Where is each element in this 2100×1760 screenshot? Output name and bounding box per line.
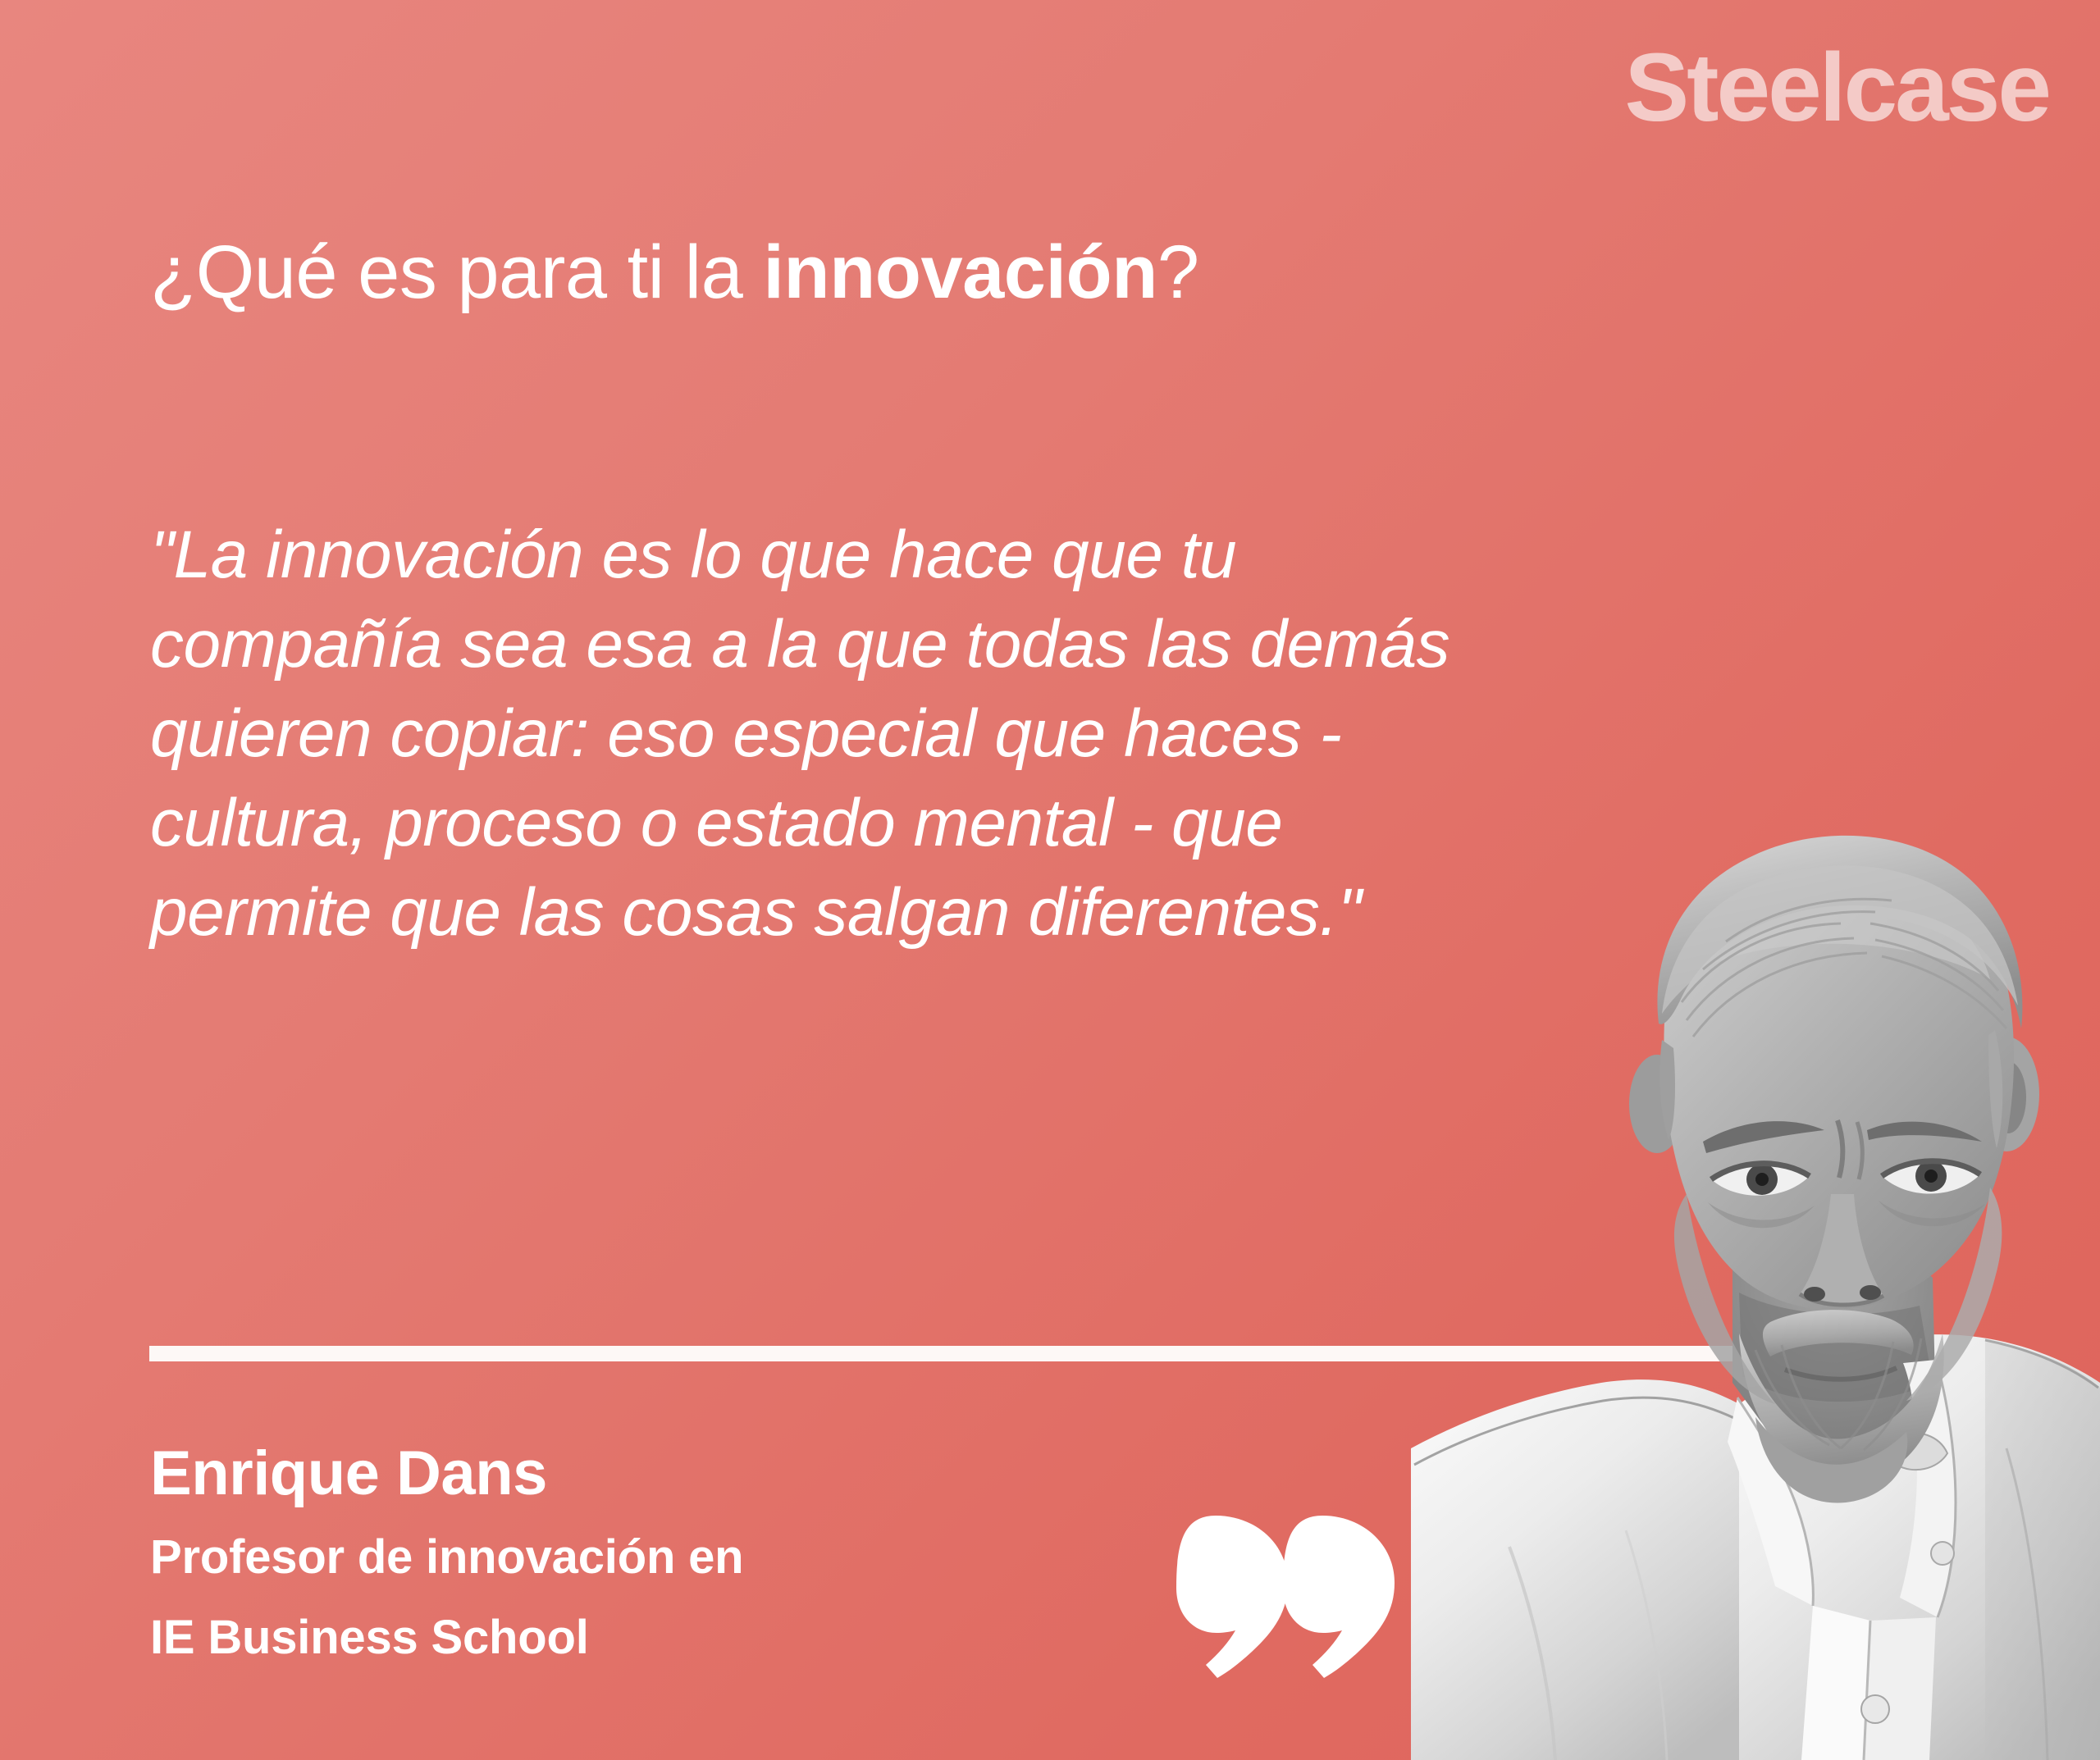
- closing-quotation-mark-icon: [1173, 1507, 1386, 1696]
- divider: [149, 1346, 1745, 1361]
- author-role-line-2: IE Business School: [150, 1604, 743, 1671]
- attribution: Enrique Dans Profesor de innovación en I…: [150, 1437, 743, 1671]
- quote-line: compañía sea esa a la que todas las demá…: [150, 600, 1594, 689]
- author-name: Enrique Dans: [150, 1437, 743, 1511]
- author-role-line-1: Profesor de innovación en: [150, 1524, 743, 1591]
- page-title: ¿Qué es para ti la innovación?: [150, 231, 1199, 314]
- quote-text: "La innovación es lo que hace que tu com…: [150, 510, 1594, 957]
- headline-emphasis: innovación: [763, 230, 1157, 314]
- headline-suffix: ?: [1157, 230, 1199, 314]
- headline-prefix: ¿Qué es para ti la: [150, 230, 763, 314]
- quote-line: "La innovación es lo que hace que tu: [150, 510, 1594, 600]
- steelcase-logo: Steelcase: [1624, 39, 2049, 136]
- quote-line: quieren copiar: eso especial que haces -: [150, 689, 1594, 778]
- quote-line: permite que las cosas salgan diferentes.…: [150, 868, 1594, 957]
- quote-card: Steelcase ¿Qué es para ti la innovación?…: [0, 0, 2100, 1760]
- quote-line: cultura, proceso o estado mental - que: [150, 778, 1594, 868]
